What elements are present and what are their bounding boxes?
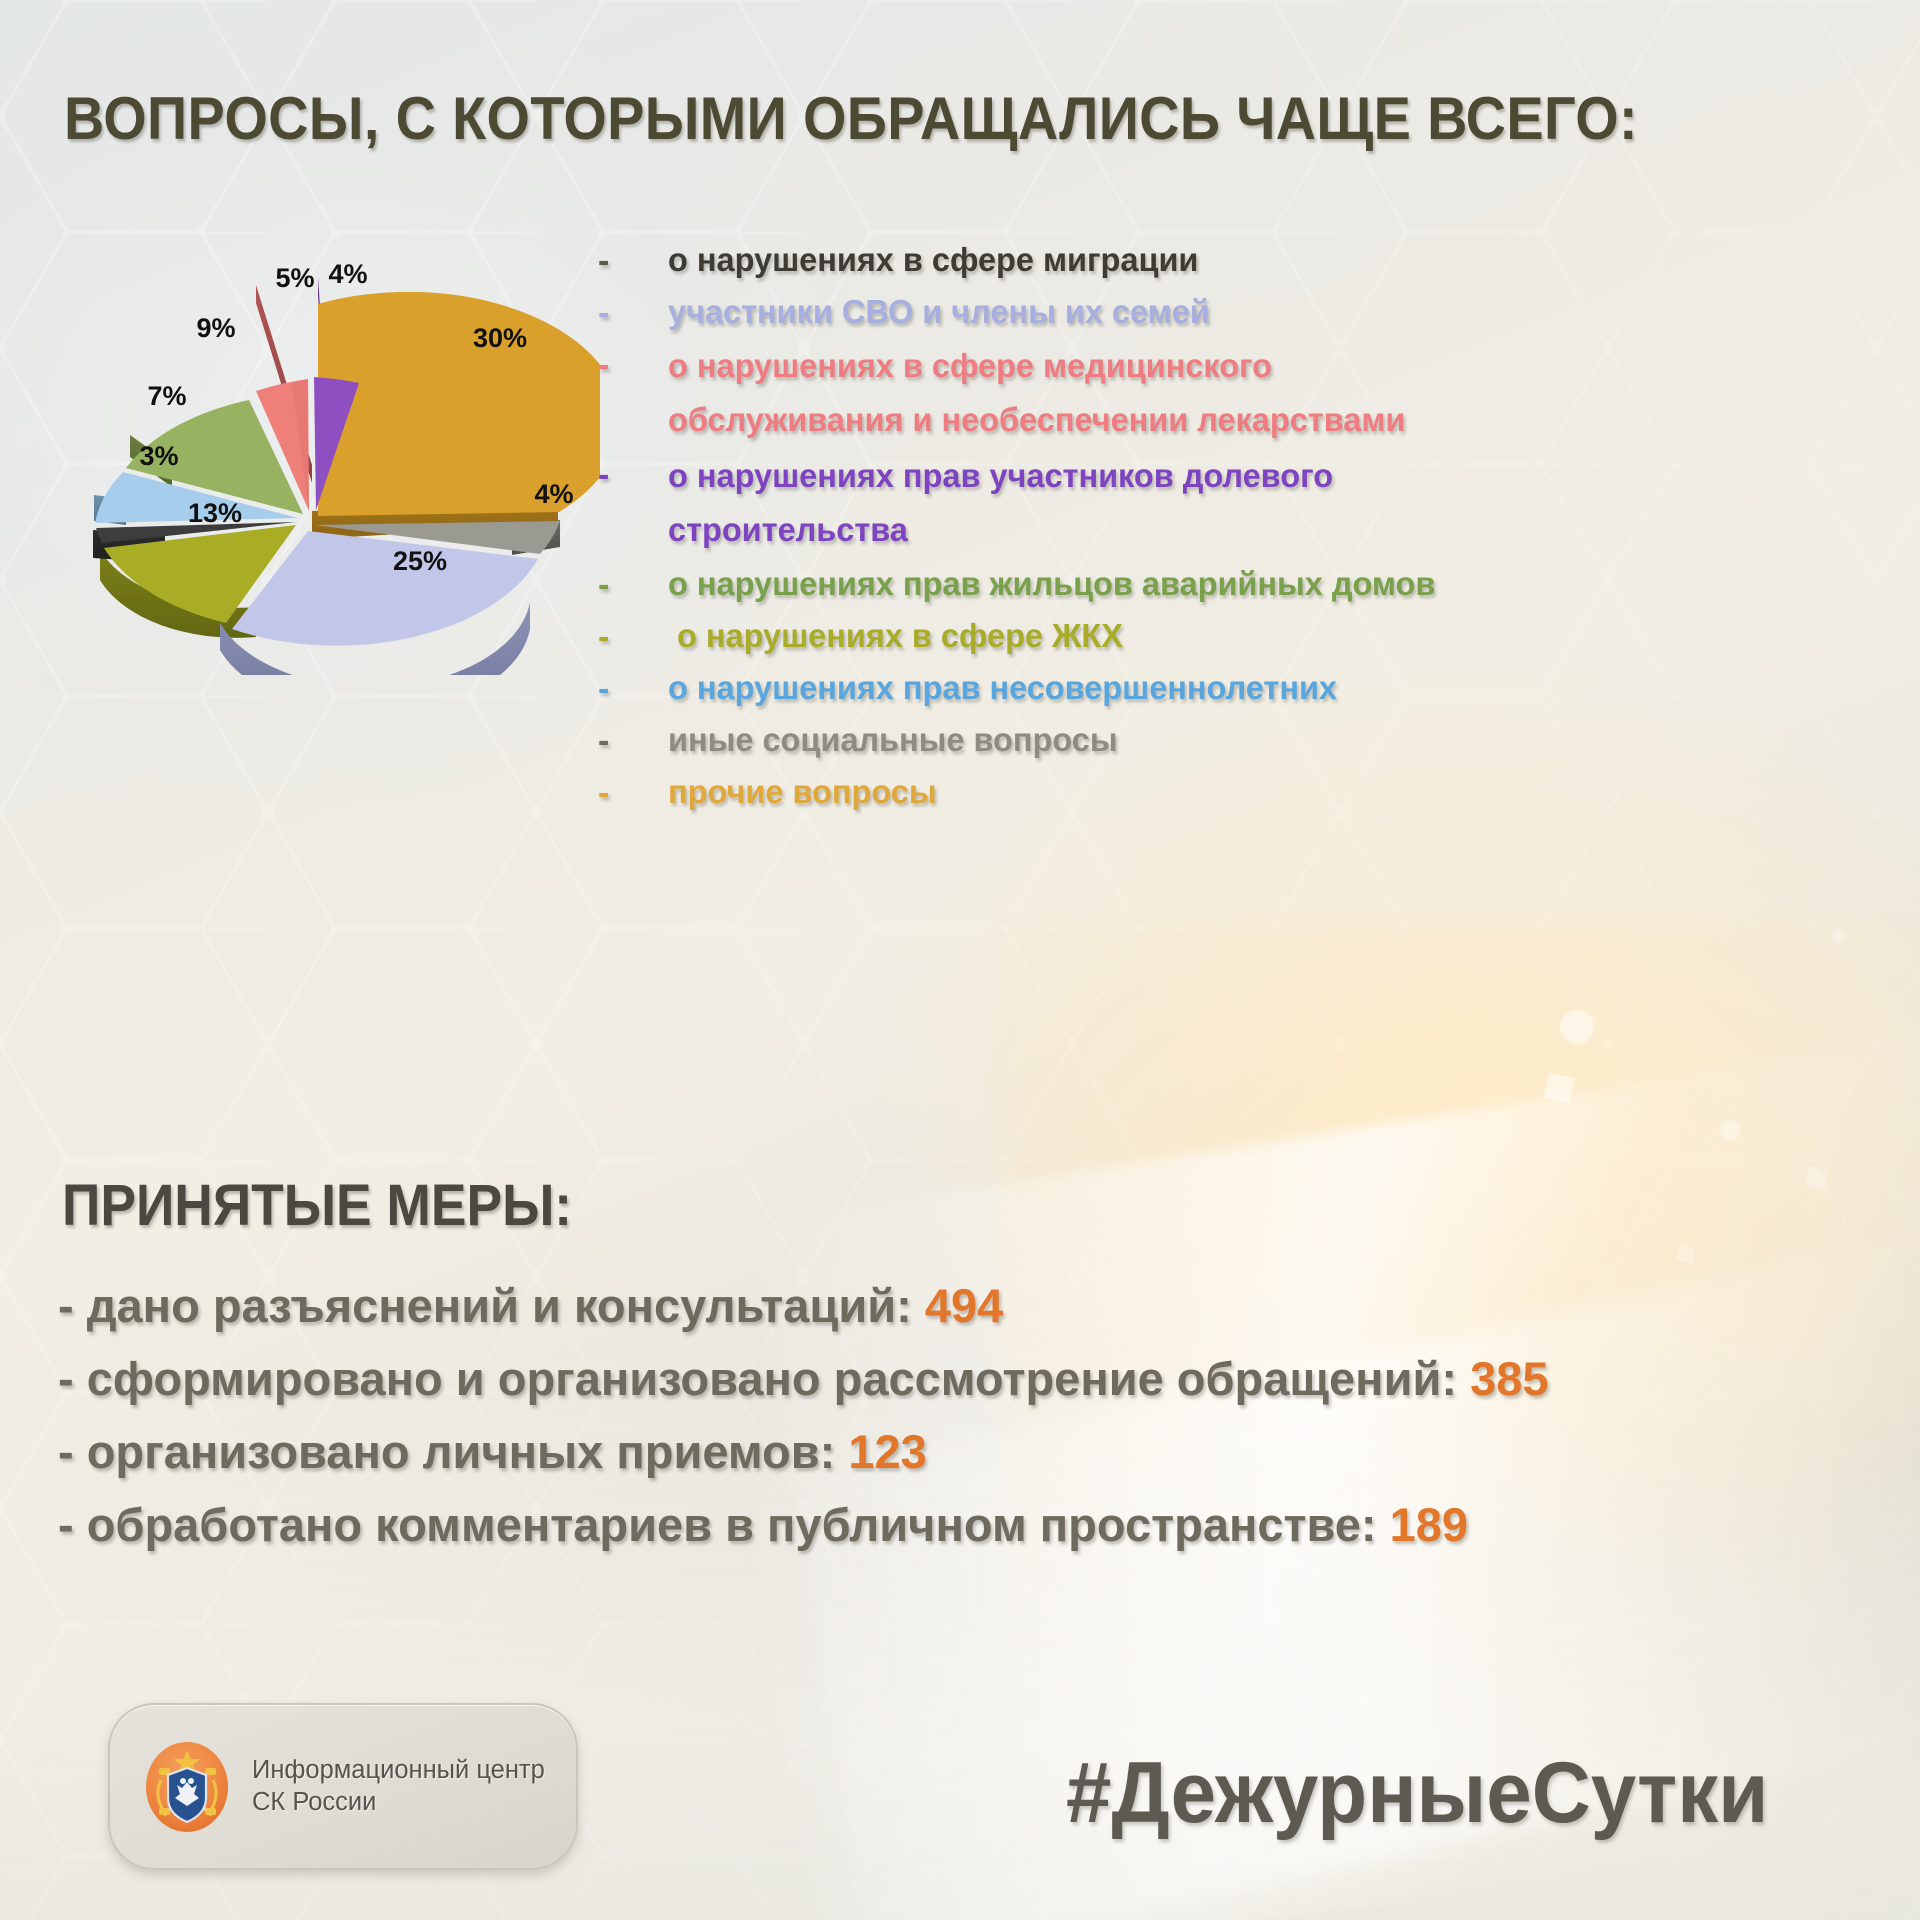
measure-row-receptions: - организовано личных приемов: 123 (58, 1424, 1898, 1479)
legend-dash-icon: - (592, 450, 668, 500)
legend-item-zhkh[interactable]: - о нарушениях в сфере ЖКХ (592, 612, 1912, 662)
measure-row-comments: - обработано комментариев в публичном пр… (58, 1497, 1898, 1552)
legend-dash-icon: - (592, 340, 668, 390)
measure-row-appeals: - сформировано и организовано рассмотрен… (58, 1351, 1898, 1406)
legend-dash-icon: - (592, 236, 668, 286)
measure-value-comments: 189 (1390, 1498, 1468, 1551)
page-title: ВОПРОСЫ, С КОТОРЫМИ ОБРАЩАЛИСЬ ЧАЩЕ ВСЕГ… (64, 84, 1638, 153)
measures-list: - дано разъяснений и консультаций: 494 -… (58, 1278, 1898, 1570)
pie-value-9: 9% (196, 313, 235, 343)
bokeh-dot (1560, 1010, 1594, 1044)
pie-value-4a: 4% (328, 259, 367, 289)
legend-label-zhkh: о нарушениях в сфере ЖКХ (668, 612, 1123, 662)
legend-dash-icon: - (592, 612, 668, 662)
legend-item-social[interactable]: - иные социальные вопросы (592, 716, 1912, 766)
legend-item-medical[interactable]: - о нарушениях в сфере медицинского обсл… (592, 340, 1912, 448)
pie-chart: 30% 25% 5% 4% 9% 13% 7% 3% 4% (60, 225, 600, 675)
measure-label-comments: - обработано комментариев в публичном пр… (58, 1498, 1390, 1551)
legend-label-medical: о нарушениях в сфере медицинского обслуж… (668, 340, 1405, 448)
measure-value-appeals: 385 (1470, 1352, 1548, 1405)
legend-label-svo: участники СВО и члены их семей (668, 288, 1210, 338)
legend-item-minors[interactable]: - о нарушениях прав несовершеннолетних (592, 664, 1912, 714)
pie-value-30: 30% (473, 323, 527, 353)
logo-line-2: СК России (252, 1787, 545, 1818)
legend-dash-icon: - (592, 288, 668, 338)
measures-title: ПРИНЯТЫЕ МЕРЫ: (62, 1172, 572, 1239)
legend-dash-icon: - (592, 664, 668, 714)
logo-badge[interactable]: Информационный центр СК России (108, 1703, 578, 1870)
pie-value-25: 25% (393, 546, 447, 576)
legend-item-migration[interactable]: - о нарушениях в сфере миграции (592, 236, 1912, 286)
measure-value-consultations: 494 (925, 1279, 1003, 1332)
measure-label-appeals: - сформировано и организовано рассмотрен… (58, 1352, 1470, 1405)
measure-label-receptions: - организовано личных приемов: (58, 1425, 848, 1478)
pie-value-5: 5% (275, 263, 314, 293)
legend-item-emergency-housing[interactable]: - о нарушениях прав жильцов аварийных до… (592, 560, 1912, 610)
pie-value-4b: 4% (534, 479, 573, 509)
measure-value-receptions: 123 (848, 1425, 926, 1478)
legend-label-emergency-housing: о нарушениях прав жильцов аварийных домо… (668, 560, 1435, 610)
legend-label-other: прочие вопросы (668, 768, 937, 818)
legend-label-social: иные социальные вопросы (668, 716, 1118, 766)
legend-dash-icon: - (592, 560, 668, 610)
bokeh-dot (1832, 930, 1846, 944)
bokeh-dot (1720, 1120, 1740, 1140)
pie-value-7: 7% (147, 381, 186, 411)
legend-item-svo[interactable]: - участники СВО и члены их семей (592, 288, 1912, 338)
chart-legend: - о нарушениях в сфере миграции - участн… (592, 236, 1912, 820)
hashtag: #ДежурныеСутки (1066, 1744, 1768, 1843)
logo-line-1: Информационный центр (252, 1755, 545, 1786)
sk-rossii-emblem-icon (144, 1740, 230, 1834)
legend-label-migration: о нарушениях в сфере миграции (668, 236, 1198, 286)
legend-item-shared-construction[interactable]: - о нарушениях прав участников долевого … (592, 450, 1912, 558)
measure-row-consultations: - дано разъяснений и консультаций: 494 (58, 1278, 1898, 1333)
legend-item-other[interactable]: - прочие вопросы (592, 768, 1912, 818)
legend-dash-icon: - (592, 768, 668, 818)
legend-label-shared-construction: о нарушениях прав участников долевого ст… (668, 450, 1333, 558)
legend-label-minors: о нарушениях прав несовершеннолетних (668, 664, 1337, 714)
pie-value-3: 3% (139, 441, 178, 471)
pie-value-13: 13% (188, 498, 242, 528)
measure-label-consultations: - дано разъяснений и консультаций: (58, 1279, 925, 1332)
legend-dash-icon: - (592, 716, 668, 766)
logo-text: Информационный центр СК России (252, 1755, 545, 1817)
